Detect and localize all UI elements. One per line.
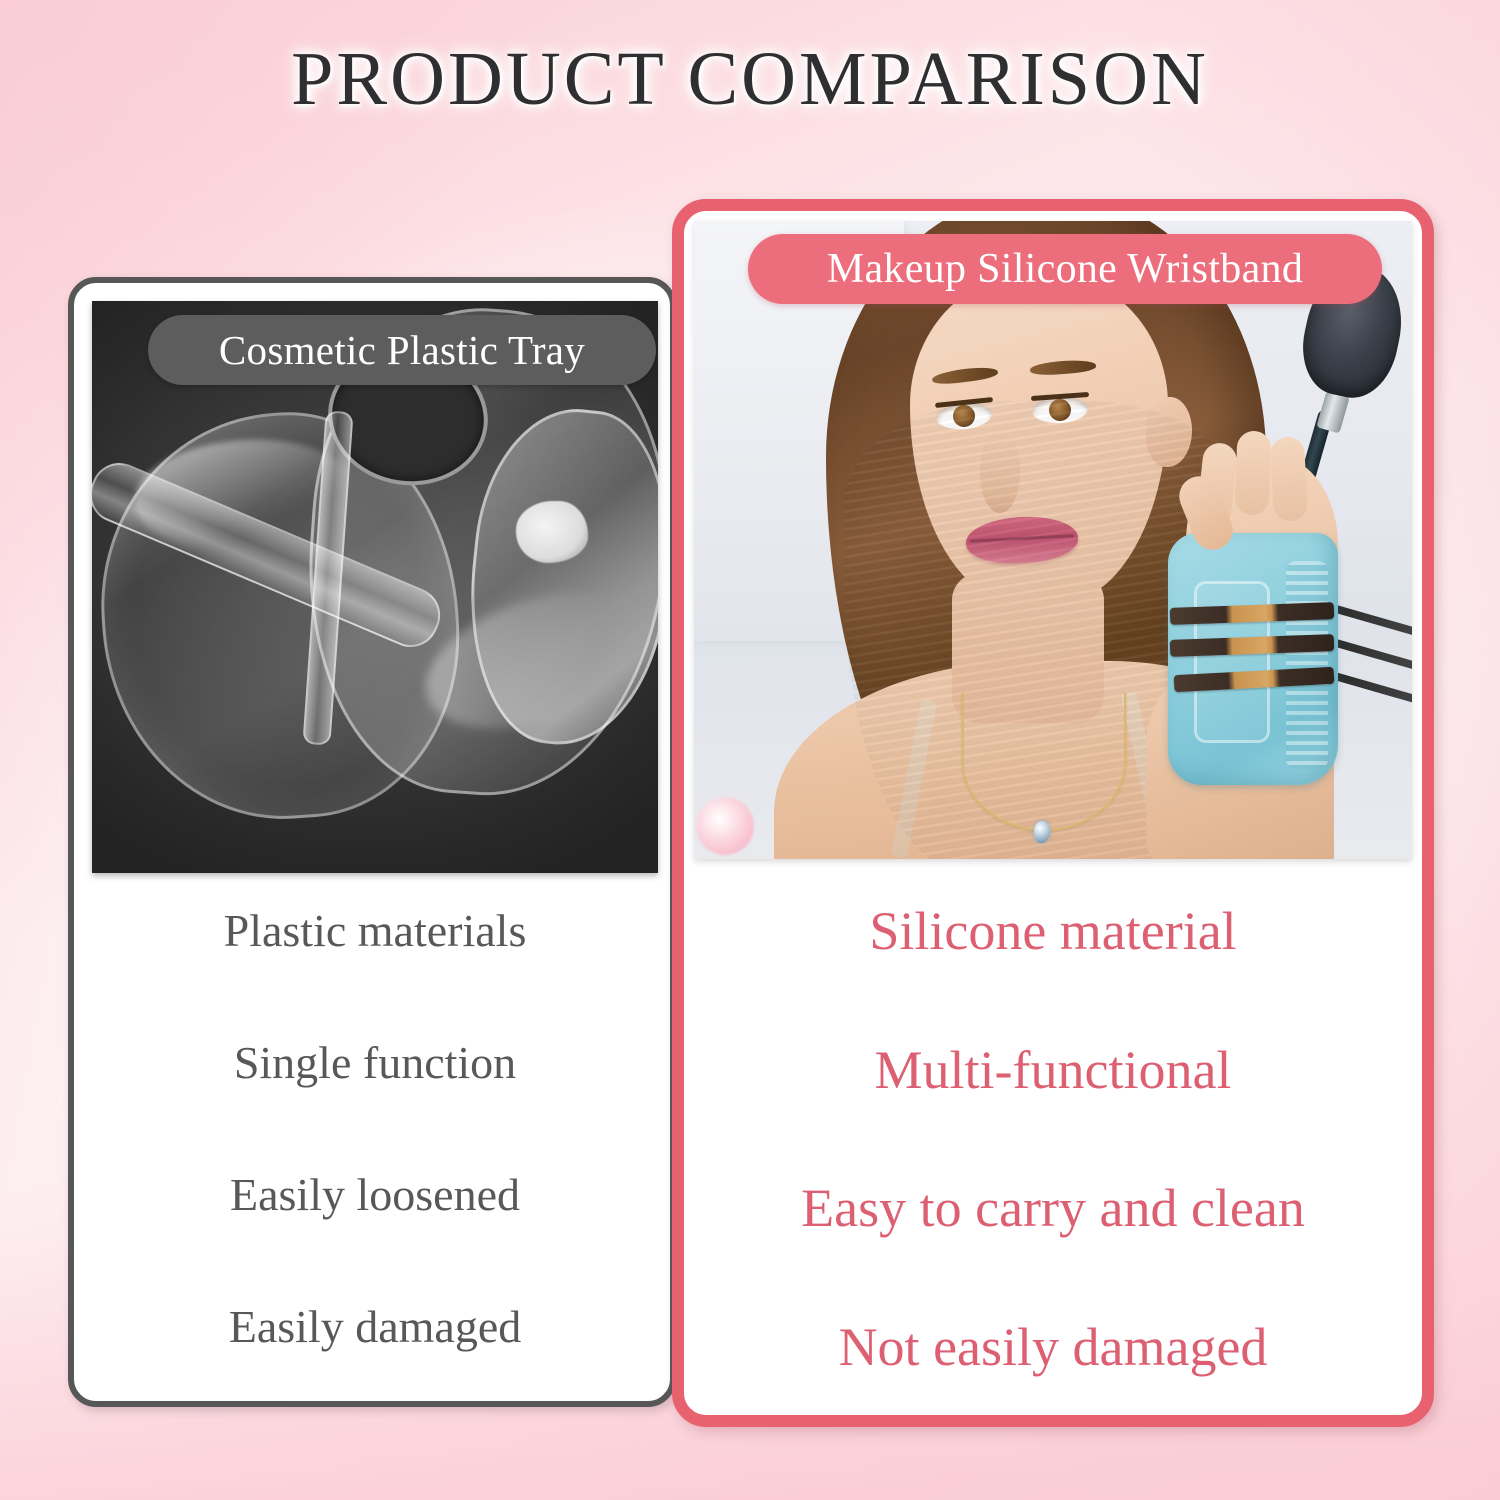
feature-list-left: Plastic materials Single function Easily… (92, 883, 658, 1383)
badge-makeup-silicone-wristband: Makeup Silicone Wristband (748, 234, 1382, 304)
product-comparison-infographic: PRODUCT COMPARISON Plastic materials Sin… (0, 0, 1500, 1500)
feature-item: Multi-functional (694, 1040, 1412, 1100)
feature-item: Plastic materials (92, 905, 658, 957)
necklace-chain (962, 693, 1126, 831)
feature-item: Single function (92, 1037, 658, 1089)
product-photo-plastic-tray (92, 301, 658, 873)
model-finger (1270, 436, 1308, 522)
model-finger (1235, 430, 1272, 515)
product-photo-silicone-wristband (694, 221, 1412, 859)
background-flower (696, 797, 754, 855)
feature-item: Easily loosened (92, 1169, 658, 1221)
feature-item: Silicone material (694, 901, 1412, 961)
feature-item: Easily damaged (92, 1301, 658, 1353)
wristband-ridges (1286, 561, 1328, 769)
white-powder-smear (516, 501, 588, 563)
feature-list-right: Silicone material Multi-functional Easy … (694, 879, 1412, 1407)
comparison-card-left: Plastic materials Single function Easily… (68, 277, 676, 1407)
comparison-card-right: Silicone material Multi-functional Easy … (672, 199, 1434, 1427)
page-title: PRODUCT COMPARISON (0, 36, 1500, 122)
badge-cosmetic-plastic-tray: Cosmetic Plastic Tray (148, 315, 656, 385)
feature-item: Not easily damaged (694, 1317, 1412, 1377)
feature-item: Easy to carry and clean (694, 1178, 1412, 1238)
